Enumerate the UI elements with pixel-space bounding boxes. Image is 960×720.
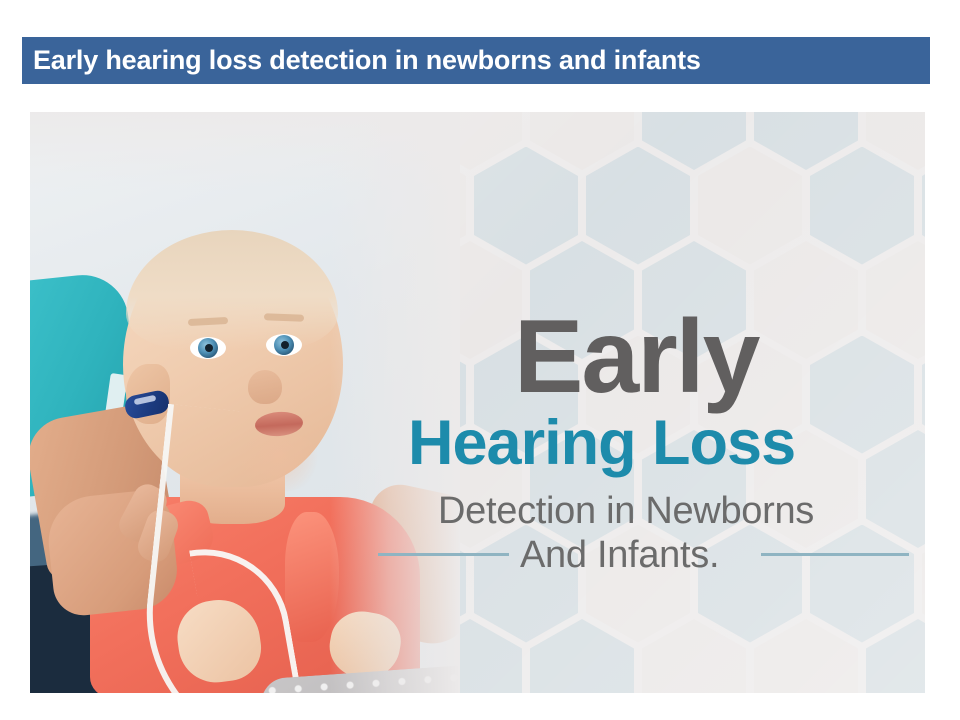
infant-nose (248, 370, 282, 404)
hexagon-tile (474, 147, 578, 265)
poster-subtitle-line-1: Detection in Newborns (438, 492, 814, 530)
hexagon-tile (810, 147, 914, 265)
poster-subtitle-line-2: And Infants. (520, 536, 719, 574)
infant-eye-right (266, 334, 302, 356)
hearing-loss-poster-image: Early Hearing Loss Detection in Newborns… (30, 112, 925, 693)
pupil (205, 344, 213, 352)
page-title: Early hearing loss detection in newborns… (33, 47, 701, 74)
infant-screening-photo (30, 112, 460, 693)
infant-eye-left (190, 337, 226, 359)
infant-eyebrow-right (264, 313, 304, 321)
poster-rule-left (378, 553, 509, 556)
hexagon-tile (866, 430, 925, 548)
hexagon-tile (698, 147, 802, 265)
photo-right-fade (330, 112, 460, 693)
hexagon-tile (866, 241, 925, 359)
poster-word-early: Early (514, 305, 758, 409)
hexagon-tile (810, 336, 914, 454)
pupil (281, 341, 289, 349)
slide-canvas: Early hearing loss detection in newborns… (0, 0, 960, 720)
slide-title-banner: Early hearing loss detection in newborns… (22, 37, 930, 84)
hexagon-tile (754, 241, 858, 359)
hexagon-tile (586, 147, 690, 265)
poster-headline-hearing-loss: Hearing Loss (408, 412, 795, 475)
hexagon-tile (810, 525, 914, 643)
poster-rule-right (761, 553, 909, 556)
